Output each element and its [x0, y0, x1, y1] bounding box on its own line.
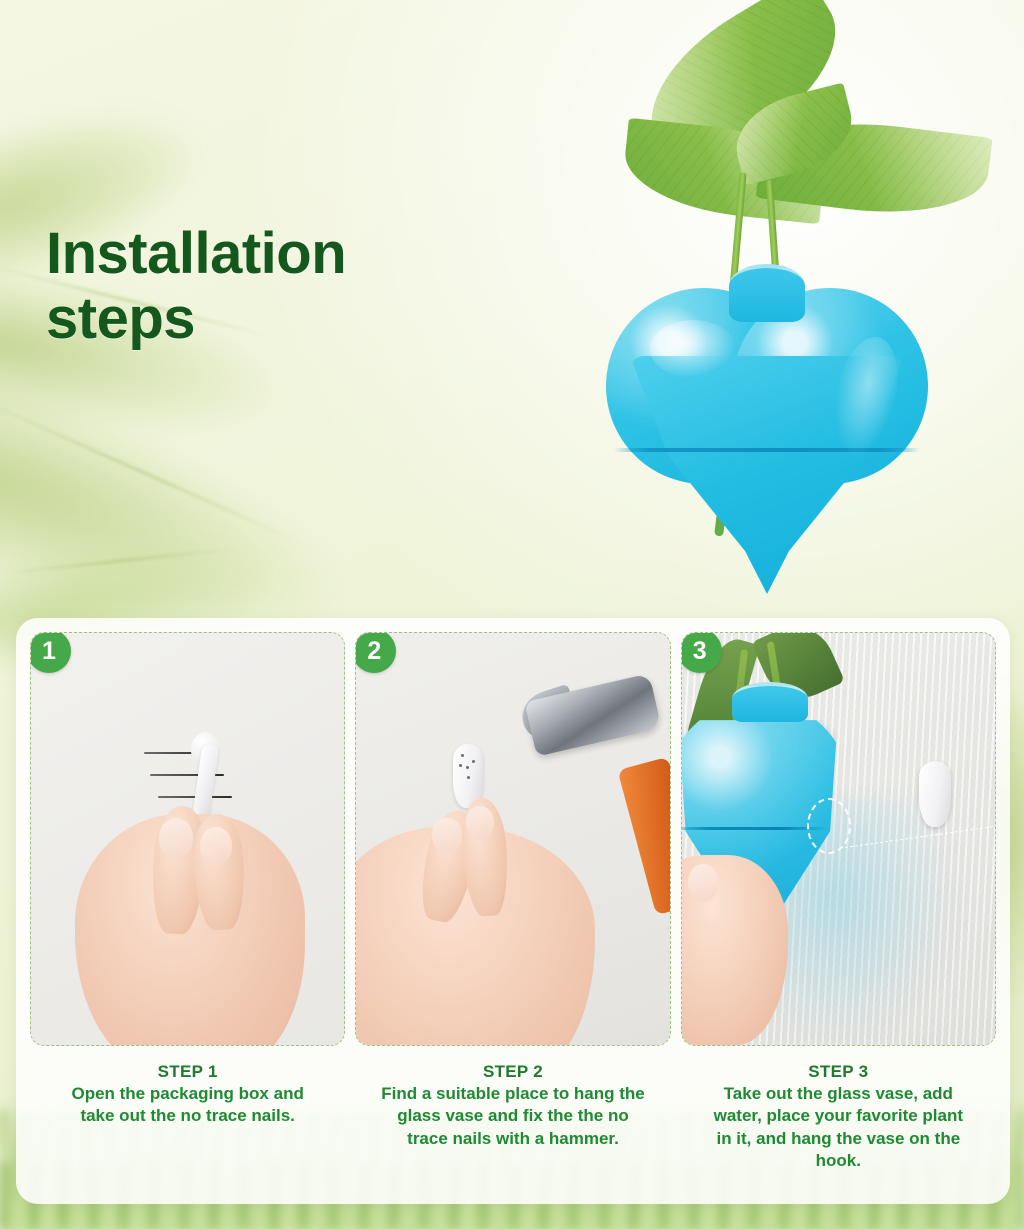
heart-glass-vase [604, 282, 930, 600]
steps-card: 1 STEP 1 Open the packaging box and take… [16, 618, 1010, 1204]
step-1-text-line2: take out the no trace nails. [36, 1105, 339, 1126]
step-1-text-line1: Open the packaging box and [36, 1083, 339, 1104]
step-3-caption: STEP 3 Take out the glass vase, add wate… [681, 1046, 996, 1172]
steps-row: 1 STEP 1 Open the packaging box and take… [16, 618, 1010, 1204]
step-3-text-line1: Take out the glass vase, add [687, 1083, 990, 1104]
vase-highlight [650, 320, 736, 378]
step-2-photo: 2 [355, 632, 670, 1046]
step-item-1: 1 STEP 1 Open the packaging box and take… [30, 632, 345, 1204]
step-3-label: STEP 3 [687, 1062, 990, 1082]
step-2-caption: STEP 2 Find a suitable place to hang the… [355, 1046, 670, 1149]
page-title: Installation steps [46, 222, 566, 352]
step-2-text-line2: glass vase and fix the the no [361, 1105, 664, 1126]
step-2-label: STEP 2 [361, 1062, 664, 1082]
fingernail [688, 864, 718, 902]
page-title-line2: steps [46, 287, 566, 352]
page-title-line1: Installation [46, 222, 566, 287]
step-2-text-line1: Find a suitable place to hang the [361, 1083, 664, 1104]
step-item-2: 2 STEP 2 Find a suitable place to hang t… [355, 632, 670, 1204]
step-item-3: 3 STEP 3 Take out the glass vase, add wa… [681, 632, 996, 1204]
step-1-caption: STEP 1 Open the packaging box and take o… [30, 1046, 345, 1127]
vase-neck [732, 682, 808, 722]
step-3-text-line3: in it, and hang the vase on the [687, 1128, 990, 1149]
hero-product-image [584, 4, 984, 604]
step-3-text-line4: hook. [687, 1150, 990, 1171]
step-3-photo: 3 [681, 632, 996, 1046]
fingernail [466, 806, 494, 840]
hang-point-marker [807, 798, 851, 854]
step-1-label: STEP 1 [36, 1062, 339, 1082]
wall-hook-icon [919, 761, 951, 827]
step-2-text-line3: trace nails with a hammer. [361, 1128, 664, 1149]
fingernail [432, 818, 462, 852]
step-3-text-line2: water, place your favorite plant [687, 1105, 990, 1126]
step-1-photo: 1 [30, 632, 345, 1046]
installation-steps-infographic: Installation steps [0, 0, 1024, 1229]
vase-neck [729, 264, 805, 322]
fingernail [200, 827, 232, 865]
vase-water-line [614, 448, 920, 452]
